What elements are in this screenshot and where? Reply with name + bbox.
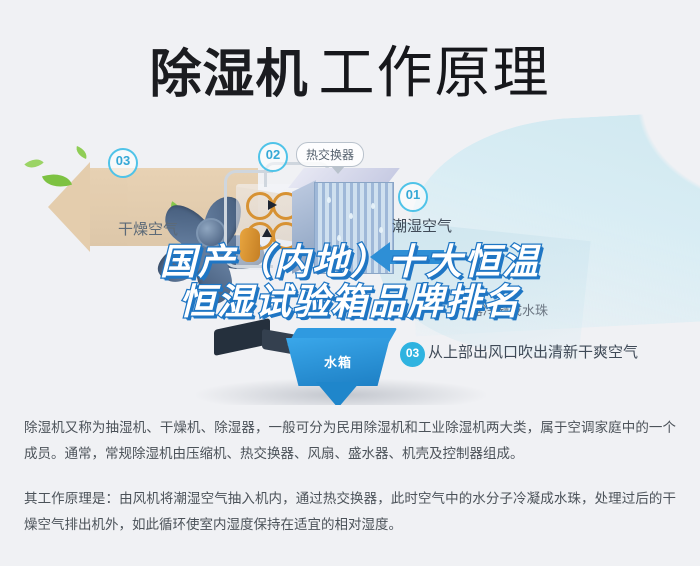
flow-arrow-icon bbox=[268, 200, 277, 210]
heat-exchanger-bubble: 热交换器 bbox=[296, 142, 364, 167]
callout-badge-03-bottom: 03 bbox=[400, 342, 425, 367]
page-title: 除湿机工作原理 bbox=[0, 28, 700, 109]
water-tank-bottom bbox=[316, 382, 360, 405]
article-body: 除湿机又称为抽湿机、干燥机、除湿器，一般可分为民用除湿机和工业除湿机两大类，属于… bbox=[0, 415, 700, 556]
callout-label-outlet-air: 从上部出风口吹出清新干爽空气 bbox=[428, 341, 638, 362]
callout-badge-03: 03 bbox=[108, 148, 138, 178]
callout-badge-01: 01 bbox=[398, 182, 428, 212]
page-title-strong: 除湿机 bbox=[149, 45, 308, 105]
overlay-headline: 国产（内地）十大恒温 恒湿试验箱品牌排名 bbox=[0, 243, 700, 324]
callout-label-humid-air: 潮湿空气 bbox=[392, 215, 452, 236]
flow-arrow-icon bbox=[262, 228, 272, 237]
water-tank-label: 水箱 bbox=[286, 352, 390, 371]
page-title-light: 工作原理 bbox=[319, 41, 551, 106]
callout-badge-02: 02 bbox=[258, 142, 288, 172]
overlay-headline-line2: 恒湿试验箱品牌排名 bbox=[0, 283, 700, 323]
body-paragraph-2: 其工作原理是：由风机将潮湿空气抽入机内，通过热交换器，此时空气中的水分子冷凝成水… bbox=[0, 486, 700, 539]
leaf-icon bbox=[74, 146, 89, 159]
body-paragraph-1: 除湿机又称为抽湿机、干燥机、除湿器，一般可分为民用除湿机和工业除湿机两大类，属于… bbox=[0, 415, 700, 468]
callout-label-dry-air: 干燥空气 bbox=[118, 218, 178, 239]
leaf-icon bbox=[24, 154, 43, 173]
overlay-headline-line1: 国产（内地）十大恒温 bbox=[0, 243, 700, 283]
page-root: 除湿机工作原理 bbox=[0, 0, 700, 566]
